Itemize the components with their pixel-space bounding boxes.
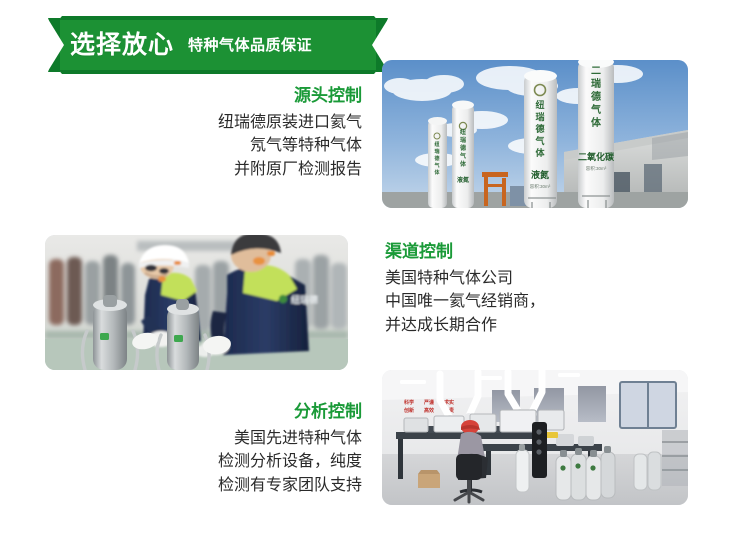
analysis-control-line-1: 美国先进特种气体 [100, 427, 362, 451]
svg-text:二氧化碳: 二氧化碳 [578, 151, 615, 162]
photo-workers-cylinders: 纽瑞德 [45, 235, 348, 370]
svg-text:瑞: 瑞 [535, 111, 544, 122]
svg-text:体: 体 [460, 160, 467, 168]
svg-text:二: 二 [591, 65, 601, 77]
heading-source-control: 源头控制 [100, 84, 362, 109]
svg-text:容积:30m³: 容积:30m³ [530, 183, 551, 190]
banner-title: 选择放心 [70, 33, 174, 58]
source-control-line-1: 纽瑞德原装进口氦气 [100, 111, 362, 135]
svg-text:容积:30m³: 容积:30m³ [586, 165, 607, 172]
channel-control-line-3: 并达成长期合作 [385, 314, 685, 338]
svg-text:纽: 纽 [434, 141, 439, 148]
heading-channel-control: 渠道控制 [385, 240, 685, 265]
svg-text:瑞: 瑞 [434, 148, 439, 155]
heading-analysis-control: 分析控制 [100, 400, 362, 425]
lab-illustration: 科学严谨求实 创新高效负责 [382, 370, 688, 505]
svg-text:体: 体 [535, 147, 545, 158]
svg-text:纽瑞德: 纽瑞德 [291, 294, 318, 305]
channel-control-line-2: 中国唯一氦气经销商， [385, 290, 685, 314]
svg-text:纽: 纽 [535, 99, 544, 110]
text-block-channel-control: 渠道控制 美国特种气体公司 中国唯一氦气经销商， 并达成长期合作 [385, 240, 685, 338]
svg-text:液氮: 液氮 [531, 169, 549, 180]
svg-text:瑞: 瑞 [460, 136, 466, 144]
svg-text:创新: 创新 [403, 407, 414, 414]
source-control-line-2: 氖气等特种气体 [100, 134, 362, 158]
svg-text:气: 气 [534, 135, 544, 146]
svg-text:科学: 科学 [403, 399, 414, 406]
section-banner: 选择放心 特种气体品质保证 [48, 16, 388, 74]
svg-text:气: 气 [590, 103, 601, 116]
svg-text:德: 德 [590, 90, 601, 103]
photo-analysis-lab: 科学严谨求实 创新高效负责 [382, 370, 688, 505]
workers-illustration: 纽瑞德 [45, 235, 348, 370]
analysis-control-line-2: 检测分析设备，纯度 [100, 450, 362, 474]
source-control-line-3: 并附原厂检测报告 [100, 158, 362, 182]
svg-text:纽: 纽 [460, 128, 466, 136]
svg-text:德: 德 [433, 155, 439, 162]
text-block-source-control: 源头控制 纽瑞德原装进口氦气 氖气等特种气体 并附原厂检测报告 [100, 84, 362, 182]
svg-text:气: 气 [433, 162, 439, 169]
storage-tanks-illustration: 纽 瑞 德 气 体 二 瑞 德 气 体 纽 瑞 德 气 体 纽 瑞 德 气 体 [382, 60, 688, 208]
svg-text:液氮: 液氮 [457, 176, 469, 184]
channel-control-line-1: 美国特种气体公司 [385, 267, 685, 291]
banner-subtitle: 特种气体品质保证 [188, 38, 312, 53]
promo-page: 选择放心 特种气体品质保证 [0, 0, 730, 537]
svg-text:气: 气 [459, 152, 466, 160]
text-block-analysis-control: 分析控制 美国先进特种气体 检测分析设备，纯度 检测有专家团队支持 [100, 400, 362, 498]
banner-label-group: 选择放心 特种气体品质保证 [48, 16, 388, 74]
svg-text:体: 体 [591, 116, 602, 129]
svg-text:严谨: 严谨 [423, 399, 434, 406]
svg-text:瑞: 瑞 [591, 77, 601, 90]
photo-storage-tanks: 纽 瑞 德 气 体 二 瑞 德 气 体 纽 瑞 德 气 体 纽 瑞 德 气 体 [382, 60, 688, 208]
svg-text:德: 德 [535, 123, 544, 134]
svg-text:高效: 高效 [424, 407, 434, 414]
analysis-control-line-3: 检测有专家团队支持 [100, 474, 362, 498]
svg-text:德: 德 [459, 144, 466, 152]
